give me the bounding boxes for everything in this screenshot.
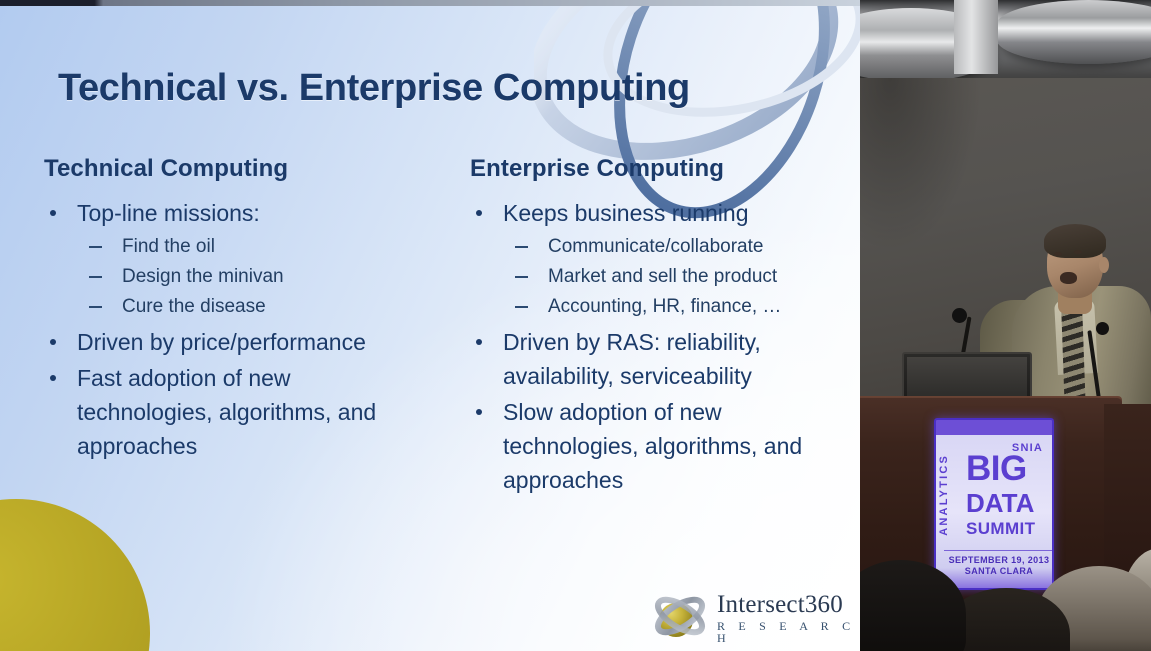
bullet-item: Keeps business running Communicate/colla… [470,196,846,322]
dash-icon [515,246,528,248]
speaker-mouth [1060,272,1077,284]
sub-bullet-text: Accounting, HR, finance, … [548,296,781,317]
bullet-item: Driven by RAS: reliability, availability… [470,325,846,393]
sub-bullet-item: Accounting, HR, finance, … [503,292,846,322]
banner-date: SEPTEMBER 19, 2013 [944,550,1054,565]
bullet-list: Top-line missions: Find the oil Design t… [44,196,416,463]
sub-bullet-item: Market and sell the product [503,262,846,292]
page-title: Technical vs. Enterprise Computing [58,67,818,110]
wall-shadow [860,78,980,248]
bullet-dot-icon [476,210,482,216]
slide-top-edge [0,0,860,6]
banner-city: SANTA CLARA [944,566,1054,576]
microphone-head [952,308,967,323]
sub-bullet-item: Cure the disease [77,292,416,322]
column-technical-computing: Technical Computing Top-line missions: F… [0,155,430,499]
column-heading: Technical Computing [44,155,416,183]
sub-bullet-text: Market and sell the product [548,266,777,287]
sub-bullet-item: Find the oil [77,232,416,262]
dash-icon [89,306,102,308]
banner-line-2: DATA [966,490,1034,516]
column-enterprise-computing: Enterprise Computing Keeps business runn… [430,155,860,499]
banner-line-3: SUMMIT [966,519,1035,539]
speaker-video-panel: ANALYTICS SNIA BIG DATA SUMMIT SEPTEMBER… [860,0,1151,651]
sub-bullet-item: Design the minivan [77,262,416,292]
bullet-text: Keeps business running [503,196,846,230]
bullet-dot-icon [476,339,482,345]
dash-icon [89,246,102,248]
decorative-gold-circle [0,499,150,651]
sub-bullet-list: Communicate/collaborate Market and sell … [503,232,846,322]
microphone-head [1096,322,1109,335]
intersect360-logo: Intersect360 R E S E A R C H [652,591,860,645]
bullet-text: Fast adoption of new technologies, algor… [77,361,416,463]
banner-vertical-text: ANALYTICS [938,454,950,536]
sub-bullet-list: Find the oil Design the minivan Cure the… [77,232,416,322]
speaker-ear [1099,257,1109,273]
dash-icon [89,276,102,278]
bullet-item: Fast adoption of new technologies, algor… [44,361,416,463]
bullet-text: Slow adoption of new technologies, algor… [503,395,846,497]
bullet-item: Slow adoption of new technologies, algor… [470,395,846,497]
sub-bullet-text: Cure the disease [122,296,266,317]
bullet-text: Driven by RAS: reliability, availability… [503,325,846,393]
presentation-slide: Technical vs. Enterprise Computing Techn… [0,5,860,651]
ceiling-light-fixture [996,0,1151,64]
sub-bullet-text: Find the oil [122,236,215,257]
bullet-text: Driven by price/performance [77,325,416,359]
sub-bullet-text: Communicate/collaborate [548,236,763,257]
ceiling-column [954,0,998,74]
sub-bullet-item: Communicate/collaborate [503,232,846,262]
bullet-text: Top-line missions: [77,196,416,230]
banner-line-1: BIG [966,453,1027,485]
speaker-eye [1054,252,1062,256]
bullet-dot-icon [50,210,56,216]
bullet-list: Keeps business running Communicate/colla… [470,196,846,497]
dash-icon [515,276,528,278]
globe-orbit-icon [652,591,708,645]
bullet-dot-icon [50,375,56,381]
event-banner: ANALYTICS SNIA BIG DATA SUMMIT SEPTEMBER… [934,418,1054,590]
column-heading: Enterprise Computing [470,155,846,183]
logo-name: Intersect360 [717,592,860,617]
screen: Technical vs. Enterprise Computing Techn… [0,0,1151,651]
bullet-dot-icon [50,339,56,345]
bullet-item: Driven by price/performance [44,325,416,359]
bullet-dot-icon [476,409,482,415]
sub-bullet-text: Design the minivan [122,266,284,287]
slide-body-columns: Technical Computing Top-line missions: F… [0,155,860,499]
bullet-item: Top-line missions: Find the oil Design t… [44,196,416,322]
logo-tagline: R E S E A R C H [717,620,860,644]
speaker-eye [1074,250,1082,254]
dash-icon [515,306,528,308]
